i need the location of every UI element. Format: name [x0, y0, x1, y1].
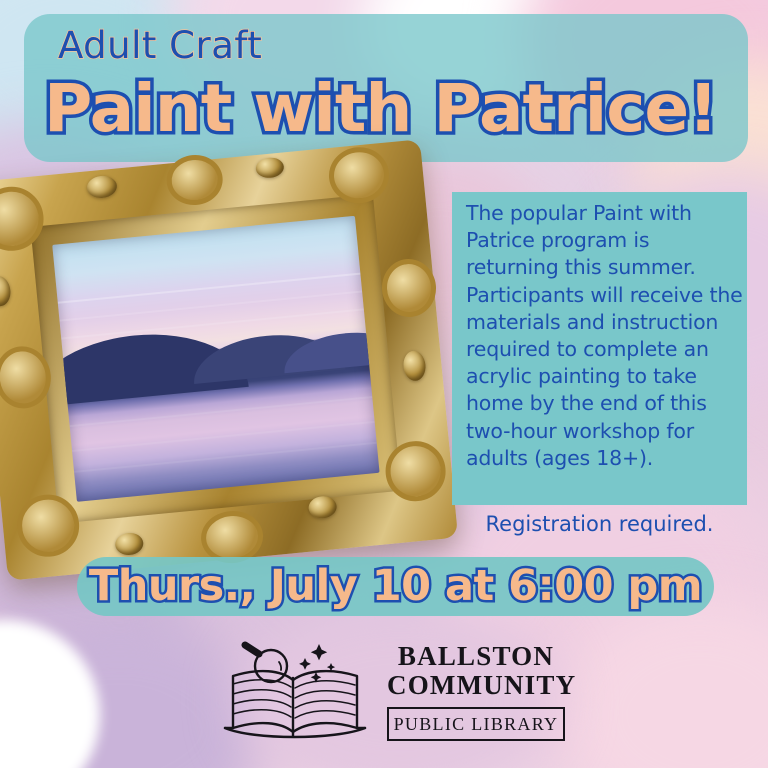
framed-artwork — [0, 139, 458, 580]
logo-line-ballston: BALLSTON — [387, 642, 565, 671]
event-datetime-banner: Thurs., July 10 at 6:00 pm — [77, 557, 714, 616]
kicker-text: Adult Craft — [58, 24, 262, 67]
page-title: Paint with Patrice! — [44, 70, 744, 147]
event-datetime-text: Thurs., July 10 at 6:00 pm — [77, 561, 714, 611]
sparkles-icon — [299, 644, 335, 683]
description-panel: The popular Paint with Patrice program i… — [452, 192, 747, 505]
logo-line-community: COMMUNITY — [387, 671, 565, 700]
painting-canvas — [52, 216, 379, 502]
description-text: The popular Paint with Patrice program i… — [466, 200, 744, 472]
magnifier-handle — [245, 645, 259, 654]
logo-wordmark: BALLSTON COMMUNITY PUBLIC LIBRARY — [387, 642, 565, 741]
registration-note: Registration required. — [452, 512, 747, 536]
mountain-far-right — [281, 327, 379, 373]
poster-canvas: Adult Craft Paint with Patrice! — [0, 0, 768, 768]
library-logo: BALLSTON COMMUNITY PUBLIC LIBRARY — [215, 636, 560, 748]
open-book-icon — [215, 636, 375, 744]
logo-public-library-box: PUBLIC LIBRARY — [387, 707, 565, 741]
